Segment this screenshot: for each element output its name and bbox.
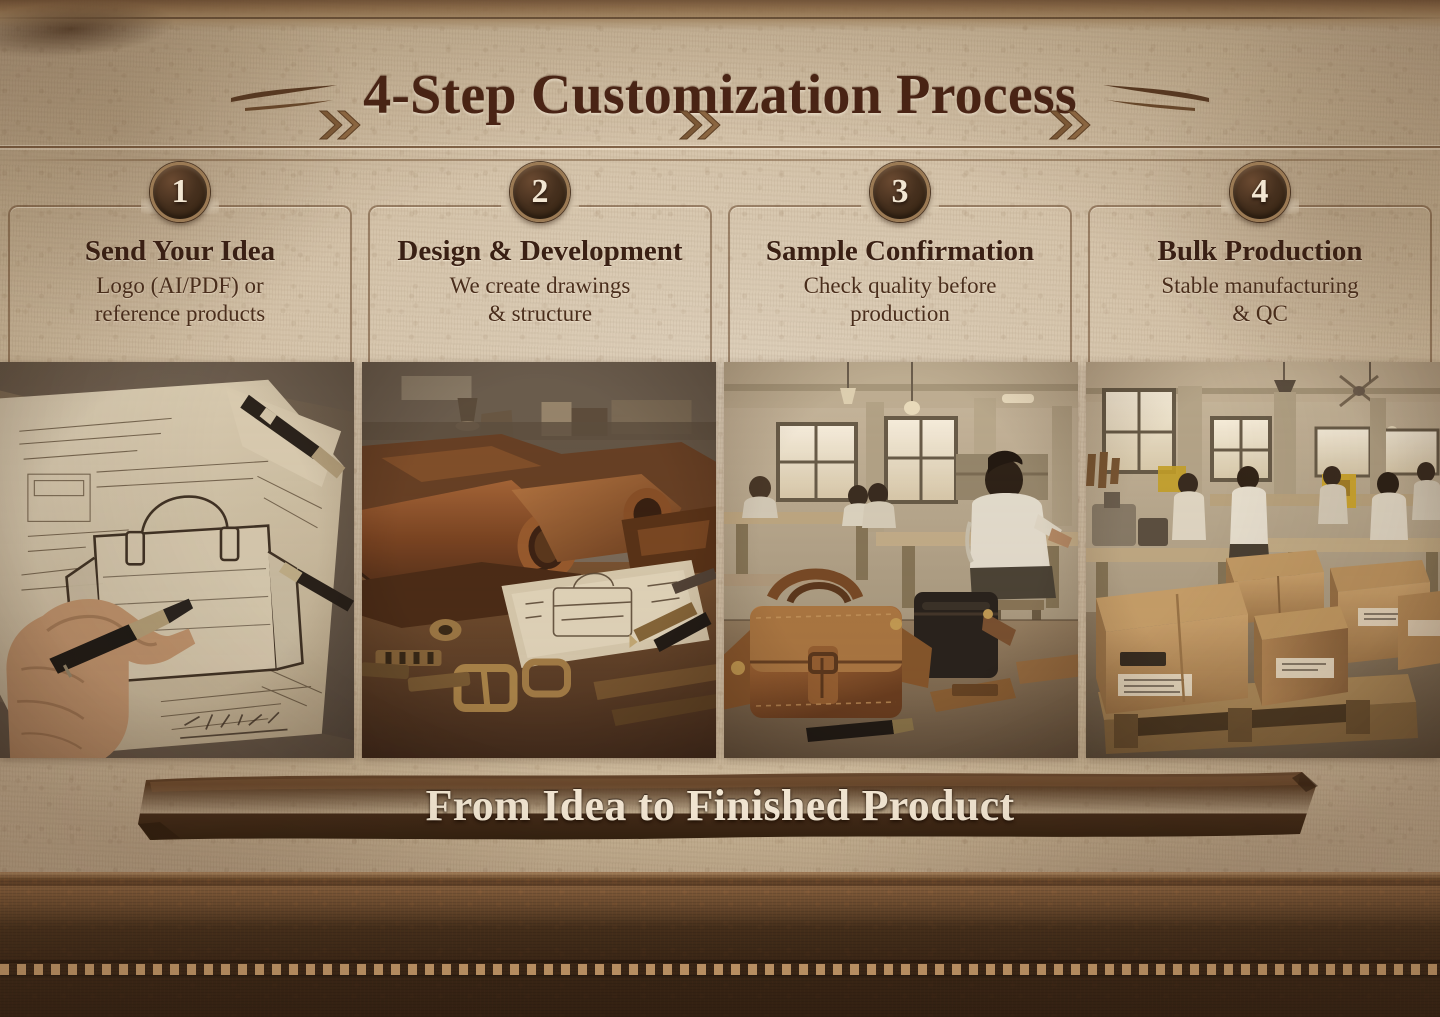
header-divider-rule bbox=[0, 145, 1440, 150]
step-number: 3 bbox=[892, 175, 909, 209]
double-chevron-icon-2 bbox=[678, 108, 722, 142]
double-chevron-icon-3 bbox=[1048, 108, 1092, 142]
top-edge-band bbox=[0, 0, 1440, 30]
bulk-production-photo-illustration bbox=[1086, 362, 1440, 758]
sketch-photo-illustration bbox=[0, 362, 354, 758]
step-number: 4 bbox=[1252, 175, 1269, 209]
step-number: 1 bbox=[172, 175, 189, 209]
step-frame bbox=[728, 205, 1072, 367]
bottom-banner: From Idea to Finished Product bbox=[0, 766, 1440, 844]
dash-flourish-right-icon bbox=[1099, 78, 1211, 112]
step-badge-3: 3 bbox=[870, 162, 930, 222]
step-frame bbox=[368, 205, 712, 367]
steps-row: 1 Send Your Idea Logo (AI/PDF) or refere… bbox=[0, 186, 1440, 361]
header-divider-rule-secondary bbox=[0, 159, 1440, 161]
leather-rolls-photo-illustration bbox=[362, 362, 716, 758]
infographic-poster: 4-Step Customization Process 1 Send Your… bbox=[0, 0, 1440, 1017]
step-badge-2: 2 bbox=[510, 162, 570, 222]
step-photo-3 bbox=[724, 362, 1078, 758]
step-2[interactable]: 2 Design & Development We create drawing… bbox=[360, 186, 720, 361]
photo-panels-row bbox=[0, 362, 1440, 758]
leather-footer bbox=[0, 872, 1440, 1017]
step-badge-1: 1 bbox=[150, 162, 210, 222]
step-photo-4 bbox=[1086, 362, 1440, 758]
step-frame bbox=[8, 205, 352, 367]
step-1[interactable]: 1 Send Your Idea Logo (AI/PDF) or refere… bbox=[0, 186, 360, 361]
step-3[interactable]: 3 Sample Confirmation Check quality befo… bbox=[720, 186, 1080, 361]
step-photo-2 bbox=[362, 362, 716, 758]
step-number: 2 bbox=[532, 175, 549, 209]
banner-tagline: From Idea to Finished Product bbox=[0, 766, 1440, 844]
step-photo-1 bbox=[0, 362, 354, 758]
step-4[interactable]: 4 Bulk Production Stable manufacturing &… bbox=[1080, 186, 1440, 361]
step-badge-4: 4 bbox=[1230, 162, 1290, 222]
sample-bags-photo-illustration bbox=[724, 362, 1078, 758]
stitch-shadow bbox=[0, 960, 1440, 963]
leather-grain-texture bbox=[0, 872, 1440, 1017]
dash-flourish-left-icon bbox=[229, 78, 341, 112]
stitch-line bbox=[0, 964, 1440, 975]
step-frame bbox=[1088, 205, 1432, 367]
double-chevron-icon-1 bbox=[318, 108, 362, 142]
